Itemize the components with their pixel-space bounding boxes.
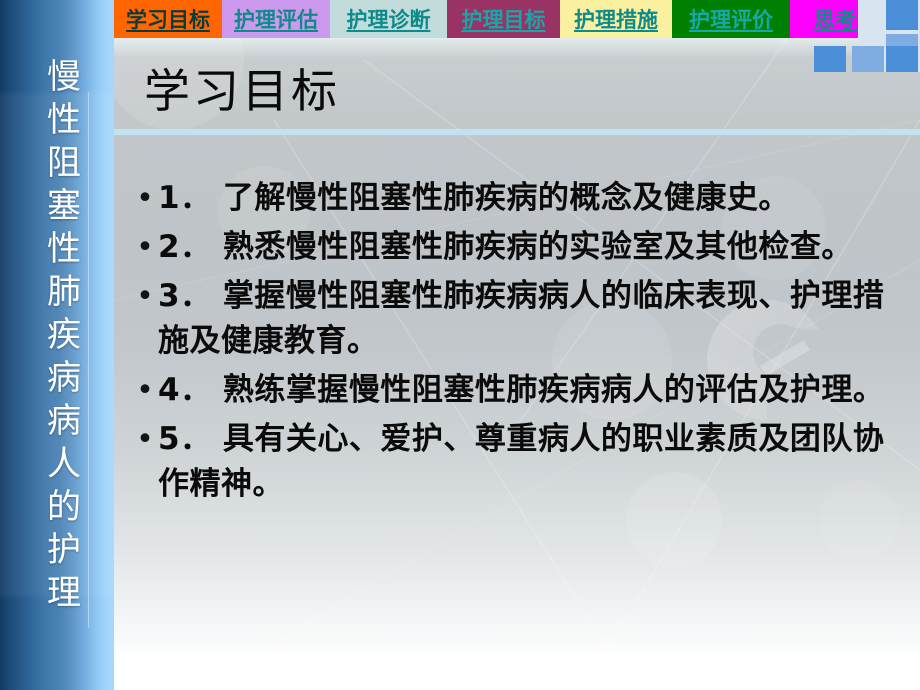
page-title: 学习目标 bbox=[144, 62, 340, 120]
objective-item: •1． 了解慢性阻塞性肺疾病的概念及健康史。 bbox=[132, 176, 910, 221]
nav-tab-label: 护理评估 bbox=[234, 9, 318, 30]
bullet-icon: • bbox=[132, 417, 158, 462]
decor-square-1 bbox=[886, 0, 918, 30]
objective-item: •2． 熟悉慢性阻塞性肺疾病的实验室及其他检查。 bbox=[132, 225, 910, 270]
nav-tab-label: 护理诊断 bbox=[347, 9, 431, 30]
nav-tab-label: 护理措施 bbox=[574, 9, 658, 30]
decor-square-5 bbox=[886, 46, 918, 72]
objective-number: 2． bbox=[158, 229, 212, 265]
objective-number: 1． bbox=[158, 180, 212, 216]
nav-tab-4[interactable]: 护理目标 bbox=[447, 0, 560, 38]
bullet-icon: • bbox=[132, 274, 158, 319]
objective-text: 5． 具有关心、爱护、尊重病人的职业素质及团队协作精神。 bbox=[158, 417, 910, 507]
objective-text: 4． 熟练掌握慢性阻塞性肺疾病病人的评估及护理。 bbox=[158, 368, 910, 413]
objective-text: 2． 熟悉慢性阻塞性肺疾病的实验室及其他检查。 bbox=[158, 225, 910, 270]
sidebar-panel: 慢性阻塞性肺疾病病人的护理 bbox=[0, 0, 114, 690]
objective-number: 3． bbox=[158, 278, 212, 314]
nav-tab-label: 学习目标 bbox=[126, 9, 210, 30]
objective-number: 5． bbox=[158, 421, 212, 457]
nav-tab-label: 护理目标 bbox=[462, 9, 546, 30]
objectives-list: •1． 了解慢性阻塞性肺疾病的概念及健康史。•2． 熟悉慢性阻塞性肺疾病的实验室… bbox=[132, 176, 910, 511]
nav-tab-1[interactable]: 学习目标 bbox=[114, 0, 222, 38]
nav-tab-6[interactable]: 护理评价 bbox=[672, 0, 790, 38]
nav-tab-5[interactable]: 护理措施 bbox=[560, 0, 672, 38]
objective-body: 掌握慢性阻塞性肺疾病病人的临床表现、护理措施及健康教育。 bbox=[158, 278, 884, 359]
title-underline-rule bbox=[114, 129, 920, 135]
objective-number: 4． bbox=[158, 372, 212, 408]
objective-item: •4． 熟练掌握慢性阻塞性肺疾病病人的评估及护理。 bbox=[132, 368, 910, 413]
bullet-icon: • bbox=[132, 225, 158, 270]
objective-text: 1． 了解慢性阻塞性肺疾病的概念及健康史。 bbox=[158, 176, 910, 221]
objective-body: 熟练掌握慢性阻塞性肺疾病病人的评估及护理。 bbox=[212, 372, 885, 408]
objective-item: •5． 具有关心、爱护、尊重病人的职业素质及团队协作精神。 bbox=[132, 417, 910, 507]
objective-body: 具有关心、爱护、尊重病人的职业素质及团队协作精神。 bbox=[158, 421, 884, 502]
nav-tab-label: 护理评价 bbox=[689, 9, 773, 30]
nav-tab-3[interactable]: 护理诊断 bbox=[330, 0, 447, 38]
decor-square-4 bbox=[852, 46, 884, 72]
bullet-icon: • bbox=[132, 176, 158, 221]
sidebar-vertical-title: 慢性阻塞性肺疾病病人的护理 bbox=[36, 56, 92, 615]
bullet-icon: • bbox=[132, 368, 158, 413]
slide-content-area: 学习目标 •1． 了解慢性阻塞性肺疾病的概念及健康史。•2． 熟悉慢性阻塞性肺疾… bbox=[114, 0, 920, 690]
nav-tab-2[interactable]: 护理评估 bbox=[222, 0, 330, 38]
presentation-slide: 慢性阻塞性肺疾病病人的护理 bbox=[0, 0, 920, 690]
objective-body: 了解慢性阻塞性肺疾病的概念及健康史。 bbox=[212, 180, 790, 216]
objective-body: 熟悉慢性阻塞性肺疾病的实验室及其他检查。 bbox=[212, 229, 853, 265]
decor-square-3 bbox=[814, 46, 846, 72]
decorative-square-grid bbox=[858, 0, 920, 72]
navigation-tab-bar[interactable]: 学习目标护理评估护理诊断护理目标护理措施护理评价思考题 bbox=[114, 0, 920, 38]
objective-text: 3． 掌握慢性阻塞性肺疾病病人的临床表现、护理措施及健康教育。 bbox=[158, 274, 910, 364]
objective-item: •3． 掌握慢性阻塞性肺疾病病人的临床表现、护理措施及健康教育。 bbox=[132, 274, 910, 364]
